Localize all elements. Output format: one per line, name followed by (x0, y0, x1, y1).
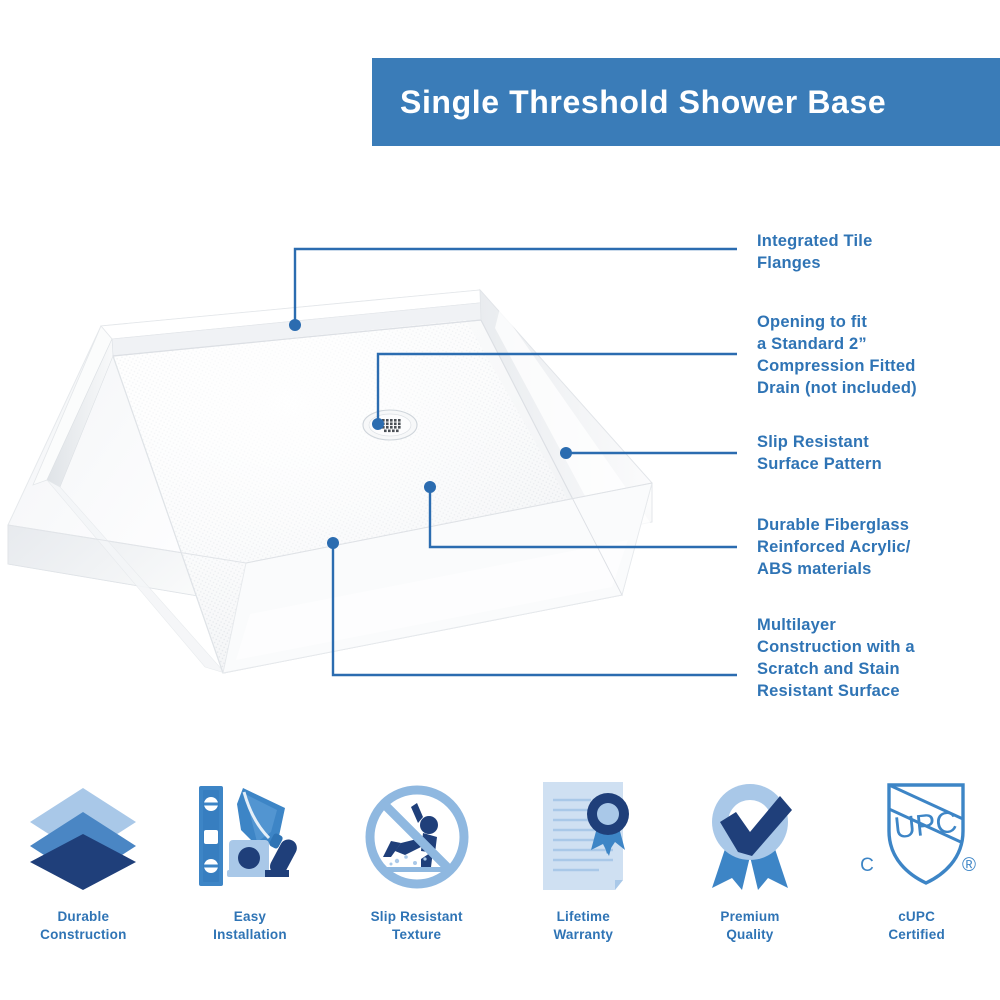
feature-badges-row: Durable Construction (0, 778, 1000, 978)
level-trowel-tape-icon (191, 778, 309, 896)
cupc-registered-mark: ® (962, 855, 976, 876)
callout-slip-resistant-surface: Slip Resistant Surface Pattern (757, 432, 882, 476)
feature-premium-quality: Premium Quality (675, 778, 825, 944)
feature-label-durable-construction: Durable Construction (40, 908, 126, 944)
cupc-shield-icon: UPC C ® (855, 778, 979, 896)
feature-label-premium-quality: Premium Quality (720, 908, 779, 944)
cupc-shield-text: UPC (892, 806, 958, 845)
cupc-prefix-c: C (860, 855, 874, 876)
feature-label-slip-resistant-texture: Slip Resistant Texture (371, 908, 463, 944)
callout-drain-opening: Opening to fit a Standard 2” Compression… (757, 312, 917, 400)
feature-cupc-certified: UPC C ® cUPC Certified (842, 778, 992, 944)
stacked-layers-icon (24, 778, 142, 896)
title-banner: Single Threshold Shower Base (372, 58, 1000, 146)
callout-integrated-tile-flanges: Integrated Tile Flanges (757, 231, 872, 275)
award-check-icon (694, 778, 806, 896)
feature-label-easy-installation: Easy Installation (213, 908, 287, 944)
feature-durable-construction: Durable Construction (8, 778, 158, 944)
no-slip-icon (361, 778, 473, 896)
certificate-rosette-icon (529, 778, 637, 896)
callout-multilayer-construction: Multilayer Construction with a Scratch a… (757, 615, 915, 703)
feature-lifetime-warranty: Lifetime Warranty (508, 778, 658, 944)
drain-grate (363, 410, 417, 440)
feature-label-cupc-certified: cUPC Certified (888, 908, 945, 944)
feature-slip-resistant-texture: Slip Resistant Texture (342, 778, 492, 944)
feature-easy-installation: Easy Installation (175, 778, 325, 944)
shower-base-drawing (0, 180, 760, 740)
callout-durable-materials: Durable Fiberglass Reinforced Acrylic/ A… (757, 515, 911, 581)
product-illustration (0, 180, 760, 740)
feature-label-lifetime-warranty: Lifetime Warranty (553, 908, 613, 944)
page-title: Single Threshold Shower Base (372, 84, 886, 121)
